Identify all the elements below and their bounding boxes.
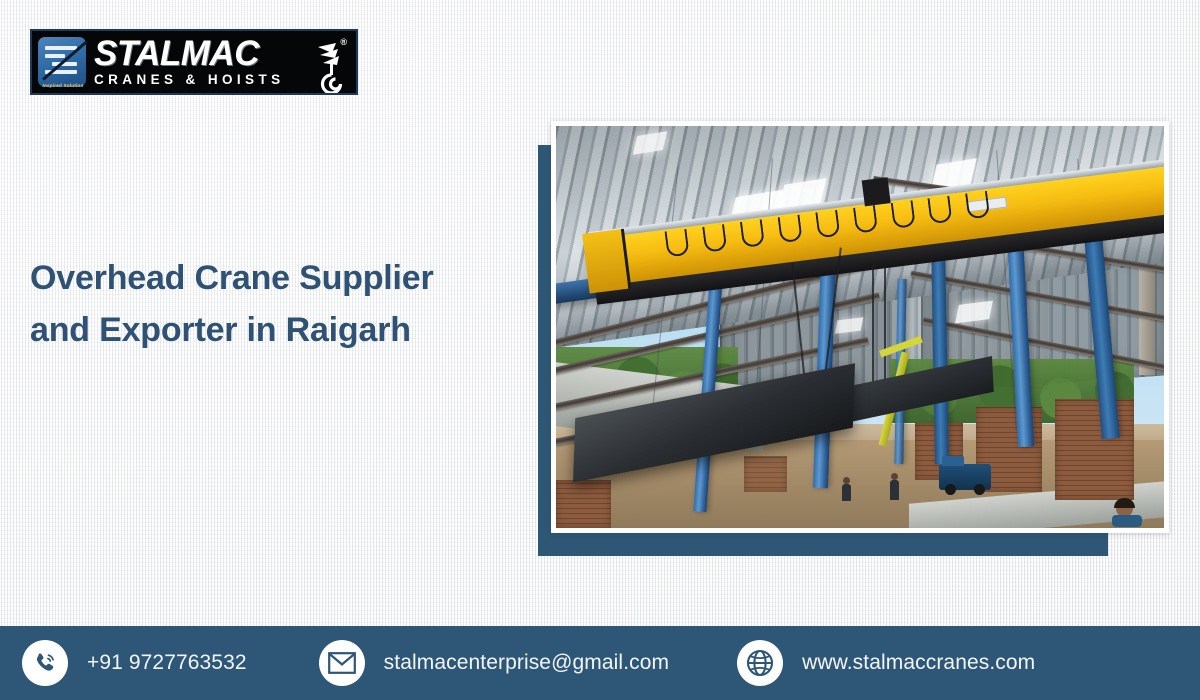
hoist-rope [872,263,874,384]
festoon-cable-loop [778,214,803,243]
page-title: Overhead Crane Supplier and Exporter in … [30,252,500,356]
hoist-rope [884,263,886,392]
festoon-cable-loop [703,224,728,253]
crane-hoist-trolley [862,177,891,206]
headline-line-2: and Exporter in Raigarh [30,304,500,356]
contact-footer-bar: +91 9727763532 stalmacenterprise@gmail.c… [0,626,1200,700]
logo-badge-text: Inspired Solution [40,83,86,88]
festoon-cable-loop [891,200,916,229]
phone-icon [22,640,68,686]
worker-figure [842,484,851,501]
website-url: www.stalmaccranes.com [802,651,1035,675]
festoon-cable-loop [928,195,953,224]
crane-hook-icon [312,41,346,93]
utility-vehicle [939,464,991,490]
headline-line-1: Overhead Crane Supplier [30,252,500,304]
contact-email[interactable]: stalmacenterprise@gmail.com [319,640,669,686]
festoon-cable-loop [966,190,991,219]
worker-figure [890,480,899,500]
globe-icon [737,640,783,686]
logo-name: STALMAC [94,37,348,71]
festoon-cable-loop [853,205,878,234]
logo-wordmark: STALMAC CRANES & HOISTS ® [92,37,348,87]
festoon-cable-loop [665,228,690,257]
brick-stack [1055,399,1134,500]
hero-photo [556,126,1164,528]
hero-photo-frame [551,121,1169,533]
brand-logo[interactable]: Inspired Solution STALMAC CRANES & HOIST… [30,29,358,95]
email-address: stalmacenterprise@gmail.com [384,651,669,675]
contact-phone[interactable]: +91 9727763532 [22,640,247,686]
festoon-cable-loop [815,209,840,238]
phone-number: +91 9727763532 [87,651,247,675]
festoon-cable-loop [740,219,765,248]
contact-website[interactable]: www.stalmaccranes.com [737,640,1035,686]
registered-trademark-symbol: ® [340,37,347,47]
crane-end-carriage [582,228,631,293]
brick-stack [556,480,611,528]
logo-tagline: CRANES & HOISTS [94,72,348,87]
person-foreground [1112,498,1146,524]
stalmac-s-monogram-icon: Inspired Solution [38,37,86,87]
brick-stack [744,456,787,492]
envelope-icon [319,640,365,686]
poster-canvas: Inspired Solution STALMAC CRANES & HOIST… [0,0,1200,700]
